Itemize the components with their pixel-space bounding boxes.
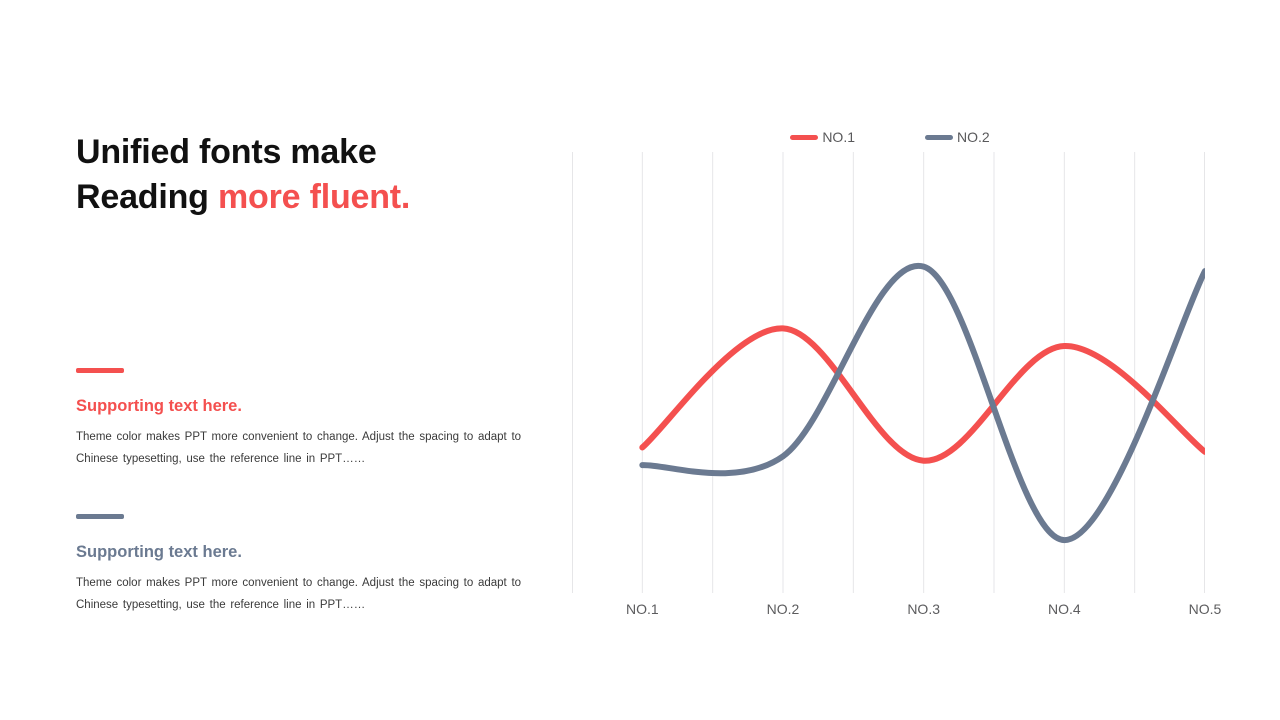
chart-x-axis: NO.1NO.2NO.3NO.4NO.5	[572, 602, 1205, 626]
legend-label-no2: NO.2	[957, 130, 990, 144]
x-axis-tick-label: NO.2	[767, 602, 800, 616]
supporting-body-1: Theme color makes PPT more convenient to…	[76, 426, 526, 471]
chart-gridlines	[573, 152, 1205, 593]
legend-item-no1[interactable]: NO.1	[790, 130, 855, 144]
x-axis-tick-label: NO.5	[1189, 602, 1222, 616]
accent-dash-slate-icon	[76, 514, 124, 519]
accent-dash-red-icon	[76, 368, 124, 373]
x-axis-tick-label: NO.3	[907, 602, 940, 616]
supporting-block-2: Supporting text here. Theme color makes …	[76, 514, 531, 617]
line-chart: NO.1 NO.2 NO.1NO.2NO.3NO.4NO.5	[560, 120, 1220, 630]
legend-label-no1: NO.1	[822, 130, 855, 144]
headline-block: Unified fonts make Reading more fluent.	[76, 130, 526, 220]
supporting-title-2: Supporting text here.	[76, 543, 531, 563]
chart-legend: NO.1 NO.2	[560, 130, 1220, 144]
legend-swatch-no2-icon	[925, 135, 953, 140]
headline-line-1: Unified fonts make	[76, 133, 377, 171]
legend-swatch-no1-icon	[790, 135, 818, 140]
chart-svg	[572, 152, 1205, 593]
page-title: Unified fonts make Reading more fluent.	[76, 130, 526, 220]
headline-line-2-plain: Reading	[76, 178, 218, 216]
chart-plot-area	[572, 152, 1205, 593]
supporting-title-1: Supporting text here.	[76, 397, 531, 417]
x-axis-tick-label: NO.4	[1048, 602, 1081, 616]
x-axis-tick-label: NO.1	[626, 602, 659, 616]
legend-item-no2[interactable]: NO.2	[925, 130, 990, 144]
headline-line-2-accent: more fluent.	[218, 178, 410, 216]
slide-canvas: Unified fonts make Reading more fluent. …	[0, 0, 1280, 720]
supporting-block-1: Supporting text here. Theme color makes …	[76, 368, 531, 471]
supporting-body-2: Theme color makes PPT more convenient to…	[76, 572, 526, 617]
